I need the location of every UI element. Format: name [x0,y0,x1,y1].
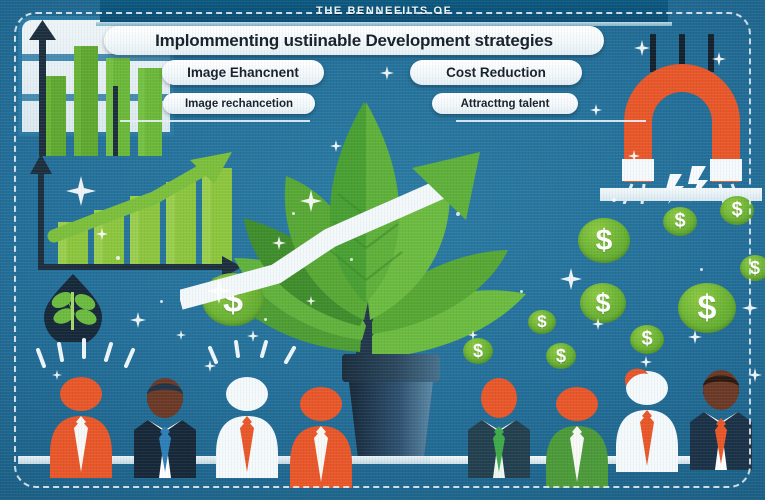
dollar-sign-icon: $ [473,341,483,362]
dollar-sign-icon: $ [750,258,760,279]
dollar-coin: $ [463,338,493,364]
dollar-sign-icon: $ [556,346,566,367]
dollar-coin: $ [663,207,697,236]
sparkle-dot [116,256,120,260]
person-orange-white-tie [42,368,120,478]
header-strip: THE BENNEFIITS OF [100,0,668,22]
dollar-sign-icon: $ [698,289,717,328]
page-title: Implommenting ustiinable Development str… [104,26,604,55]
sparkle-dot [612,198,616,202]
label-image-rechancetion[interactable]: Image rechancetion [163,93,315,114]
dollar-sign-icon: $ [641,328,652,351]
sparkle-icon [560,268,582,290]
person-white-orange-tie [208,368,286,478]
sparkle-dot [700,268,703,271]
label-attracting-talent[interactable]: Attracttng talent [432,93,578,114]
dollar-coin: $ [546,343,576,369]
sparkle-icon [176,330,186,340]
header-kicker: THE BENNEFIITS OF [316,5,452,17]
sparkle-dot [160,300,163,303]
dollar-sign-icon: $ [674,210,685,233]
dollar-sign-icon: $ [595,288,610,319]
person-suit-blue-tie [126,368,204,478]
dollar-sign-icon: $ [596,224,613,258]
person-orange-white-tie-2 [282,378,360,488]
label-image-enhancement[interactable]: Image Ehancnent [162,60,324,85]
infographic-poster: $$$$$$$$$$$ THE BENNEFIITS OF Implomment… [0,0,765,500]
person-white-orange-tie-2 [608,362,686,472]
dollar-coin: $ [630,325,664,354]
dollar-coin: $ [740,255,765,281]
dollar-coin: $ [578,218,630,263]
dollar-coin: $ [720,196,754,225]
eco-leaf-icon [40,272,106,342]
connector-line-left [120,120,310,122]
sparkle-icon [380,66,394,80]
magnet-icon [606,34,758,204]
person-green-white-tie [538,378,616,488]
radiating-rays-icon-2 [206,336,302,366]
sparkle-icon [590,104,602,116]
dollar-coin: $ [678,283,736,333]
sparkle-dot [292,212,295,215]
connector-line-right [456,120,646,122]
sparkle-dot [456,212,460,216]
person-suit-orange-tie [682,360,760,470]
person-suit-green-tie [460,368,538,478]
sparkle-icon [742,300,758,316]
dollar-coin: $ [580,283,626,323]
sparkle-dot [350,258,353,261]
radiating-rays-icon [36,336,136,370]
dollar-sign-icon: $ [731,199,742,222]
sparkle-dot [736,214,739,217]
label-cost-reduction[interactable]: Cost Reduction [410,60,582,85]
sparkle-icon [130,312,146,328]
sparkle-dot [264,318,267,321]
rising-arrow-swoosh [180,150,560,330]
sparkle-dot [520,290,523,293]
